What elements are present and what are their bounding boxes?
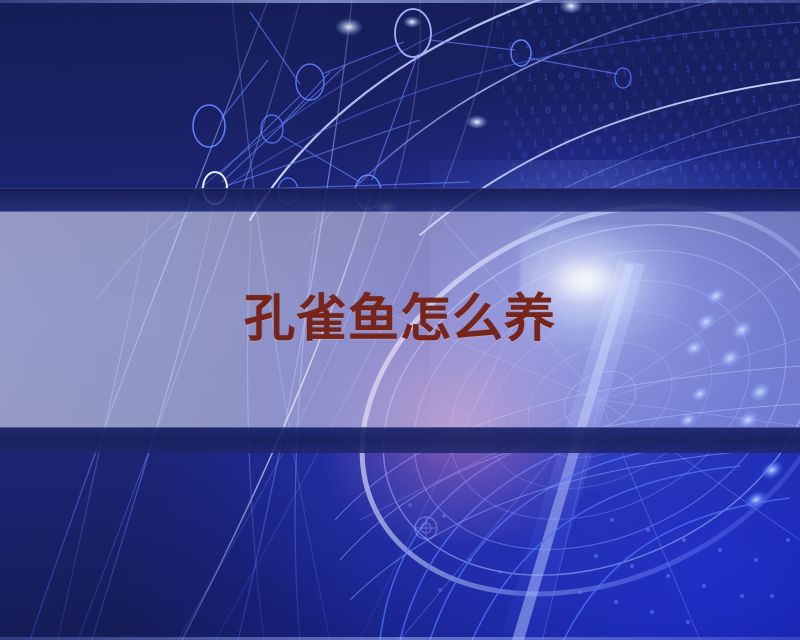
banner-image: 0 1 0 0 1 1 0 0 0 1 0 1 1 0 0 1 0 0 1 1 …: [0, 0, 800, 640]
page-title: 孔雀鱼怎么养: [244, 294, 556, 345]
band-divider-top: [0, 188, 800, 212]
band-divider-bottom: [0, 427, 800, 453]
top-edge-hairline: [0, 0, 800, 3]
title-container: 孔雀鱼怎么养: [0, 211, 800, 428]
